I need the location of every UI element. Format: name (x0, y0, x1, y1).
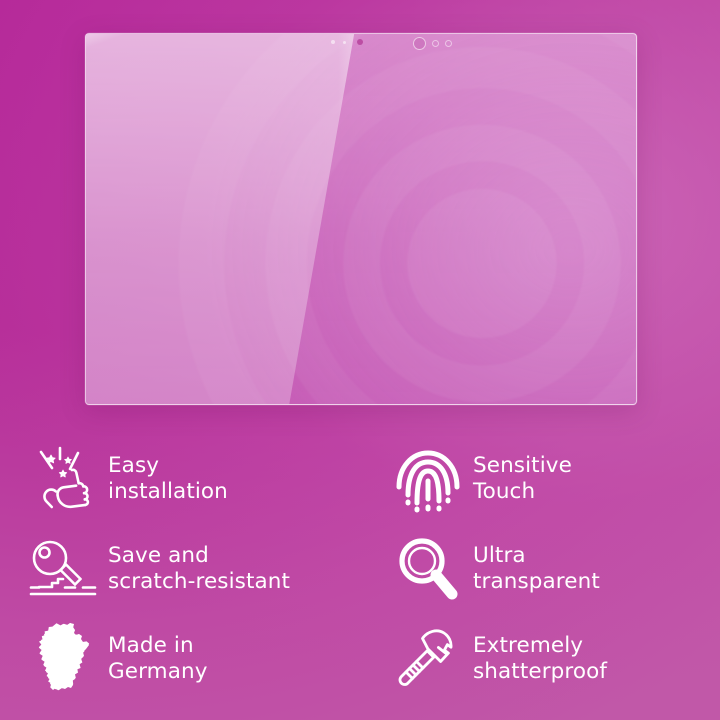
fingerprint-icon (383, 438, 473, 520)
feature-save-and-scratch-resistant: Save and scratch-resistant (18, 528, 290, 610)
feature-label: Extremely shatterproof (473, 633, 607, 685)
feature-made-in-germany: Made in Germany (18, 618, 208, 700)
feature-ultra-transparent: Ultra transparent (383, 528, 600, 610)
sensor-dot-2-cutout (343, 41, 346, 44)
feature-label: Save and scratch-resistant (108, 543, 290, 595)
hammer-icon (383, 618, 473, 700)
protector-film-edge-glint (85, 33, 360, 405)
magnifier-icon (383, 528, 473, 610)
flash-cutout (432, 40, 439, 47)
feature-label: Easy installation (108, 453, 228, 505)
keys-scratch-icon (18, 528, 108, 610)
feature-label: Ultra transparent (473, 543, 600, 595)
protector-film-highlight (85, 33, 360, 405)
germany-map-icon (18, 618, 108, 700)
product-feature-banner: Easy installation (0, 0, 720, 720)
front-camera-cutout (357, 39, 363, 45)
screen-protector-sheet (85, 33, 637, 405)
rear-camera-cutout (413, 37, 426, 50)
feature-easy-installation: Easy installation (18, 438, 228, 520)
protector-reflection-rings (86, 34, 636, 404)
feature-label: Sensitive Touch (473, 453, 572, 505)
microphone-cutout (445, 40, 452, 47)
protector-gloss-edge (86, 34, 636, 404)
feature-list: Easy installation (0, 430, 720, 720)
sensor-dot-1-cutout (331, 40, 335, 44)
snapping-fingers-icon (18, 438, 108, 520)
feature-extremely-shatterproof: Extremely shatterproof (383, 618, 607, 700)
feature-sensitive-touch: Sensitive Touch (383, 438, 572, 520)
feature-label: Made in Germany (108, 633, 208, 685)
